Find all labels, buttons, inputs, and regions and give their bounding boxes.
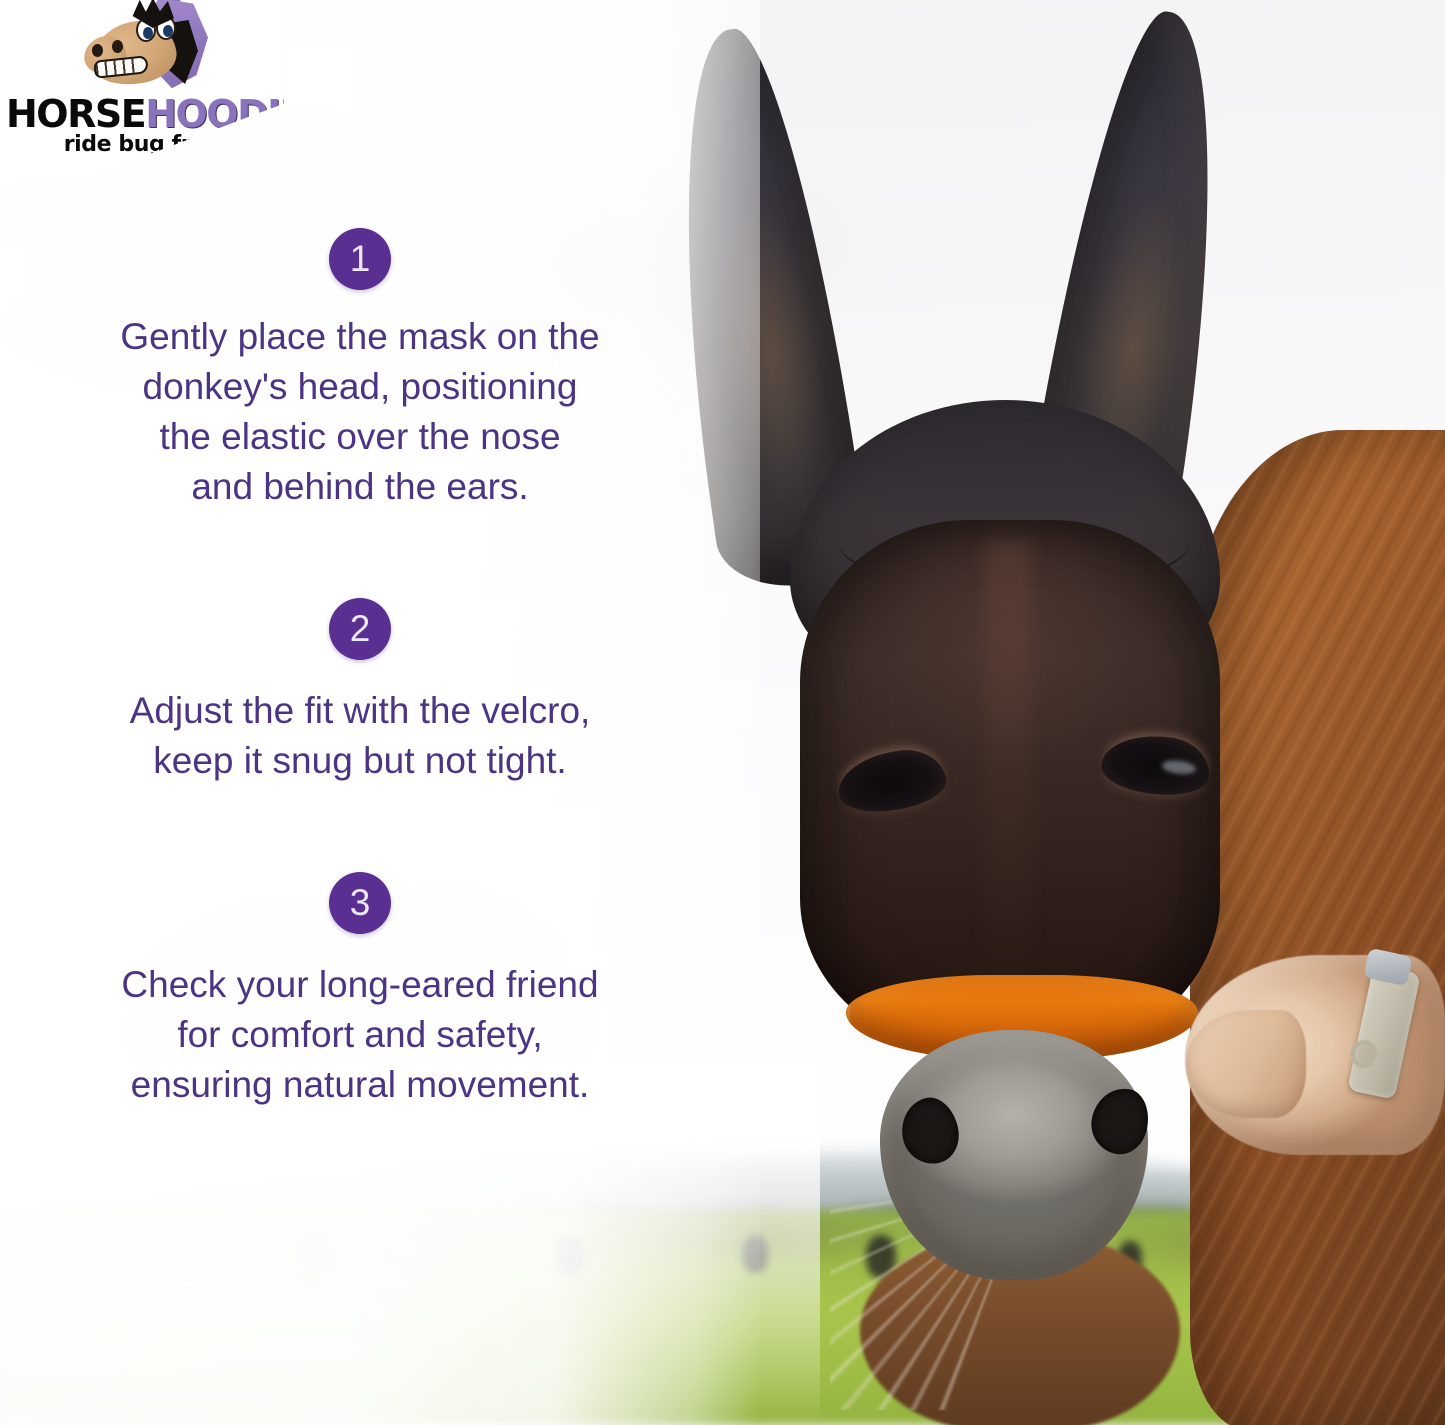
step-number-badge-1: 1 [329,228,391,290]
instruction-step-2: 2 Adjust the fit with the velcro, keep i… [0,598,720,786]
mascot-nostril [112,40,123,53]
human-fingers [1186,1010,1306,1118]
step-text-1: Gently place the mask on the donkey's he… [0,312,720,512]
instruction-steps-list: 1 Gently place the mask on the donkey's … [0,0,720,1425]
wordmark-horse: HORSE [6,92,145,136]
step-number-badge-2: 2 [329,598,391,660]
step-number-badge-3: 3 [329,872,391,934]
step-text-2: Adjust the fit with the velcro, keep it … [0,686,720,786]
instruction-step-1: 1 Gently place the mask on the donkey's … [0,228,720,512]
instruction-step-3: 3 Check your long-eared friend for comfo… [0,872,720,1110]
mascot-nostril [92,44,103,57]
donkey-mascot-icon [78,0,206,100]
step-text-3: Check your long-eared friend for comfort… [0,960,720,1110]
product-instructions-infographic: HORSEHOODIES ride bug free 1 Gently plac… [0,0,1445,1425]
face-highlight [985,540,1031,1010]
